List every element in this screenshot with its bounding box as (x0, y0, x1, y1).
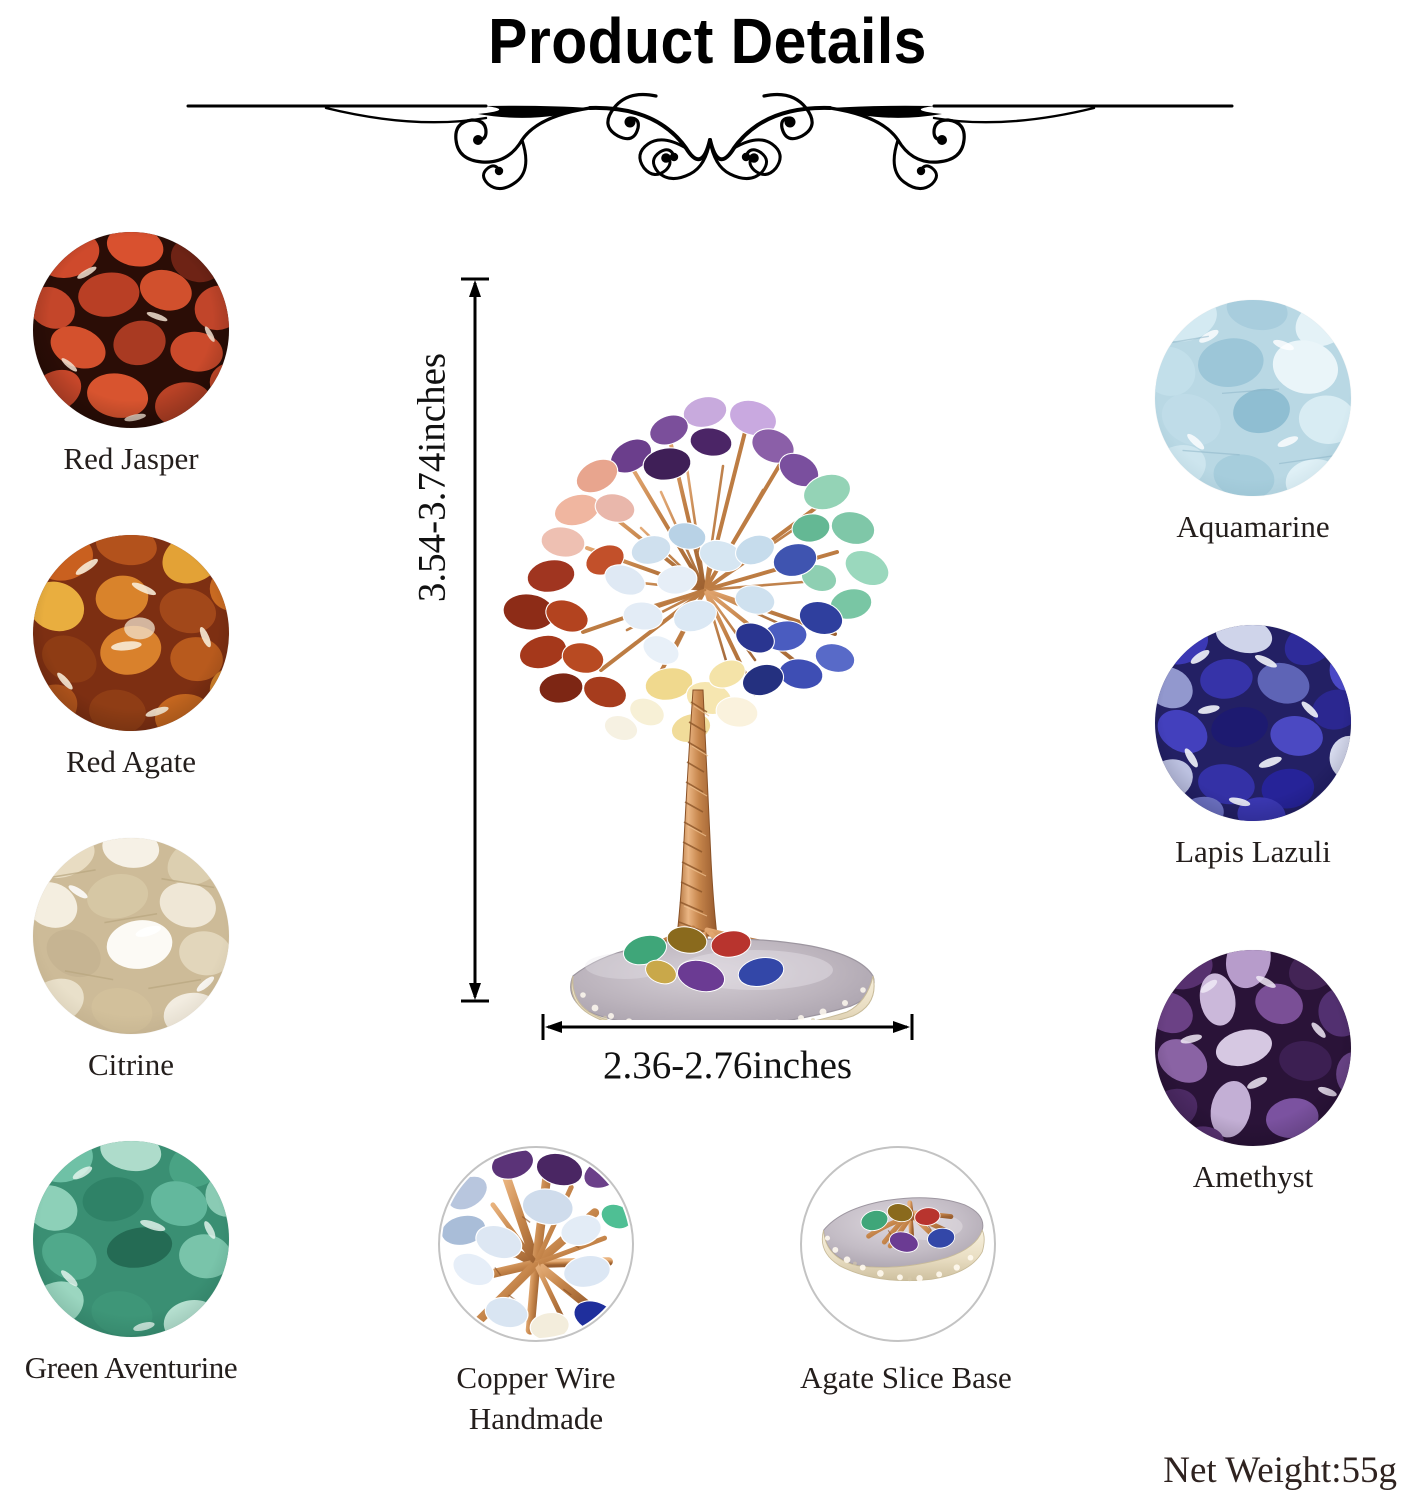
stone-swatch-red-agate: Red Agate (33, 535, 229, 781)
aquamarine-image (1155, 300, 1351, 496)
gemstone-tree-product-image (455, 260, 955, 1020)
feature-label-copper-wire-line2: Handmade (438, 1399, 634, 1440)
net-weight-label: Net Weight:55g (1163, 1449, 1397, 1492)
lapis-lazuli-image (1155, 625, 1351, 821)
agate-slice-base-image (800, 1146, 996, 1342)
stone-label-amethyst: Amethyst (1155, 1158, 1351, 1196)
stone-swatch-red-jasper: Red Jasper (33, 232, 229, 478)
feature-label-copper-wire-line1: Copper Wire (438, 1358, 634, 1399)
stone-label-red-agate: Red Agate (33, 743, 229, 781)
stone-swatch-citrine: Citrine (33, 838, 229, 1084)
stone-swatch-amethyst: Amethyst (1155, 950, 1351, 1196)
height-dimension-arrow (455, 275, 495, 1005)
ornamental-flourish-divider-icon (186, 78, 1236, 198)
stone-label-lapis-lazuli: Lapis Lazuli (1155, 833, 1351, 871)
amethyst-image (1155, 950, 1351, 1146)
copper-wire-handmade-image (438, 1146, 634, 1342)
stone-swatch-lapis-lazuli: Lapis Lazuli (1155, 625, 1351, 871)
height-dimension-label: 3.54-3.74inches (410, 268, 455, 688)
stone-swatch-green-aventurine: Green Aventurine (33, 1141, 229, 1387)
stone-label-aquamarine: Aquamarine (1155, 508, 1351, 546)
stone-label-green-aventurine: Green Aventurine (0, 1349, 267, 1387)
page-title: Product Details (57, 4, 1359, 78)
width-dimension-arrow (540, 1012, 915, 1042)
stone-label-citrine: Citrine (33, 1046, 229, 1084)
feature-label-agate-slice-base-line1: Agate Slice Base (800, 1358, 996, 1399)
red-jasper-image (33, 232, 229, 428)
feature-copper-wire-handmade: Copper Wire Handmade (438, 1146, 634, 1440)
green-aventurine-image (33, 1141, 229, 1337)
red-agate-image (33, 535, 229, 731)
citrine-image (33, 838, 229, 1034)
stone-swatch-aquamarine: Aquamarine (1155, 300, 1351, 546)
width-dimension-label: 2.36-2.76inches (505, 1043, 950, 1088)
feature-agate-slice-base: Agate Slice Base (800, 1146, 996, 1399)
stone-label-red-jasper: Red Jasper (33, 440, 229, 478)
